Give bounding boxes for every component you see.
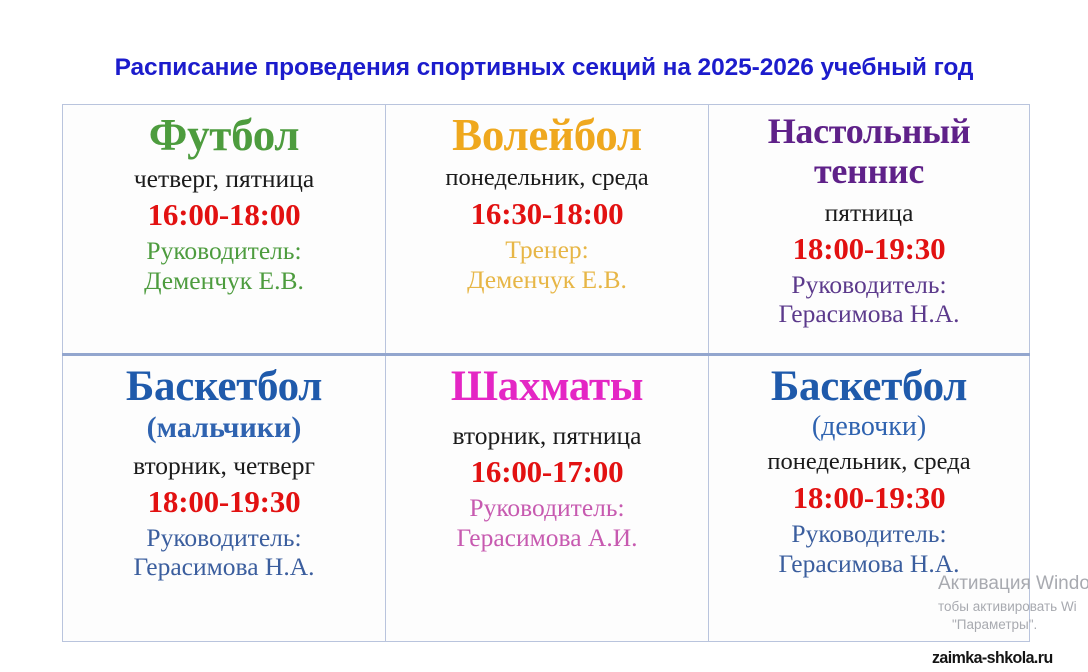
section-card-chess: Шахматы вторник, пятница 16:00-17:00 Рук… bbox=[386, 356, 708, 641]
section-title: Шахматы bbox=[392, 364, 702, 410]
section-card-table-tennis: Настольный теннис пятница 18:00-19:30 Ру… bbox=[709, 105, 1029, 353]
site-watermark: zaimka-shkola.ru bbox=[932, 648, 1053, 668]
section-time: 18:00-19:30 bbox=[715, 232, 1023, 266]
section-time: 16:00-17:00 bbox=[392, 455, 702, 489]
section-role-label: Руководитель: bbox=[69, 523, 379, 553]
section-leader-name: Герасимова А.И. bbox=[392, 523, 702, 553]
section-subtitle: (девочки) bbox=[715, 411, 1023, 443]
section-title: Баскетбол bbox=[69, 364, 379, 410]
section-leader-name: Деменчук Е.В. bbox=[392, 265, 702, 295]
section-card-football: Футбол четверг, пятница 16:00-18:00 Руко… bbox=[63, 105, 385, 353]
table-cell-basketball-boys: Баскетбол (мальчики) вторник, четверг 18… bbox=[63, 355, 386, 642]
schedule-table: Футбол четверг, пятница 16:00-18:00 Руко… bbox=[62, 104, 1030, 642]
section-card-basketball-boys: Баскетбол (мальчики) вторник, четверг 18… bbox=[63, 356, 385, 641]
poster-page: Расписание проведения спортивных секций … bbox=[0, 0, 1088, 672]
section-days: пятница bbox=[715, 199, 1023, 227]
section-time: 16:30-18:00 bbox=[392, 197, 702, 231]
section-subtitle: (мальчики) bbox=[69, 411, 379, 446]
section-time: 18:00-19:30 bbox=[715, 481, 1023, 515]
table-cell-basketball-girls: Баскетбол (девочки) понедельник, среда 1… bbox=[709, 355, 1030, 642]
section-role-label: Руководитель: bbox=[392, 493, 702, 523]
section-leader-name: Герасимова Н.А. bbox=[715, 549, 1023, 579]
section-card-volleyball: Волейбол понедельник, среда 16:30-18:00 … bbox=[386, 105, 708, 353]
section-time: 16:00-18:00 bbox=[69, 198, 379, 232]
section-role-label: Руководитель: bbox=[715, 270, 1023, 300]
page-title: Расписание проведения спортивных секций … bbox=[0, 54, 1088, 82]
section-days: четверг, пятница bbox=[69, 165, 379, 193]
section-days: понедельник, среда bbox=[715, 449, 1023, 476]
section-title: Настольный теннис bbox=[715, 111, 1023, 192]
section-title: Баскетбол bbox=[715, 364, 1023, 410]
section-days: вторник, четверг bbox=[69, 452, 379, 480]
section-title: Волейбол bbox=[392, 111, 702, 159]
table-cell-football: Футбол четверг, пятница 16:00-18:00 Руко… bbox=[63, 105, 386, 355]
table-cell-table-tennis: Настольный теннис пятница 18:00-19:30 Ру… bbox=[709, 105, 1030, 355]
table-row: Баскетбол (мальчики) вторник, четверг 18… bbox=[63, 355, 1030, 642]
section-leader-name: Деменчук Е.В. bbox=[69, 266, 379, 296]
section-days: вторник, пятница bbox=[392, 422, 702, 450]
table-cell-chess: Шахматы вторник, пятница 16:00-17:00 Рук… bbox=[386, 355, 709, 642]
section-time: 18:00-19:30 bbox=[69, 485, 379, 519]
section-leader-name: Герасимова Н.А. bbox=[715, 299, 1023, 329]
section-card-basketball-girls: Баскетбол (девочки) понедельник, среда 1… bbox=[709, 356, 1029, 641]
section-role-label: Тренер: bbox=[392, 235, 702, 265]
section-role-label: Руководитель: bbox=[715, 519, 1023, 549]
section-title: Футбол bbox=[69, 111, 379, 159]
section-role-label: Руководитель: bbox=[69, 236, 379, 266]
table-row: Футбол четверг, пятница 16:00-18:00 Руко… bbox=[63, 105, 1030, 355]
table-cell-volleyball: Волейбол понедельник, среда 16:30-18:00 … bbox=[386, 105, 709, 355]
section-days: понедельник, среда bbox=[392, 165, 702, 192]
section-leader-name: Герасимова Н.А. bbox=[69, 552, 379, 582]
